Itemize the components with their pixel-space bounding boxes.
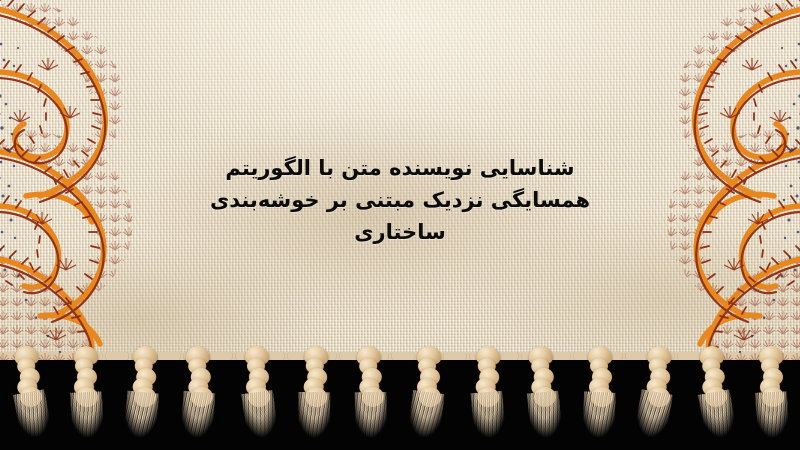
tassel-skirt — [298, 392, 330, 444]
tassel — [235, 352, 279, 448]
tassel-skirt — [526, 390, 563, 445]
tassel — [64, 352, 108, 448]
title-line-1: شناسایی نویسنده متن با الگوریتم — [195, 152, 605, 184]
tassel — [290, 351, 339, 449]
tassel-skirt — [12, 389, 53, 446]
tassel-skirt — [755, 391, 789, 444]
tassel-skirt — [70, 391, 104, 444]
tassel-skirt — [406, 390, 445, 446]
title-line-3: ساختاری — [195, 216, 605, 248]
tassel — [347, 351, 396, 449]
tassel-skirt — [582, 391, 616, 444]
tassel-skirt — [632, 389, 673, 446]
tassel — [407, 352, 451, 448]
tassel-skirt — [698, 389, 739, 446]
tassel — [578, 352, 622, 448]
tassel — [118, 351, 167, 449]
slide-title: شناسایی نویسنده متن با الگوریتم همسایگی … — [195, 152, 605, 248]
tassel — [461, 351, 510, 449]
tassel — [633, 351, 682, 449]
tassel — [749, 352, 793, 448]
tassel-skirt — [355, 392, 387, 444]
tassel — [690, 351, 739, 449]
tassel-skirt — [122, 390, 159, 445]
tassel-skirt — [241, 390, 280, 446]
tassel-fringe — [0, 352, 800, 450]
slide-canvas: شناسایی نویسنده متن با الگوریتم همسایگی … — [0, 0, 800, 450]
title-line-2: همسایگی نزدیک مبتنی بر خوشه‌بندی — [195, 184, 605, 216]
tassel-skirt — [470, 391, 506, 445]
tassel — [176, 351, 225, 449]
tassel-skirt — [180, 391, 216, 445]
tassel — [518, 351, 567, 449]
tassel — [4, 351, 53, 449]
